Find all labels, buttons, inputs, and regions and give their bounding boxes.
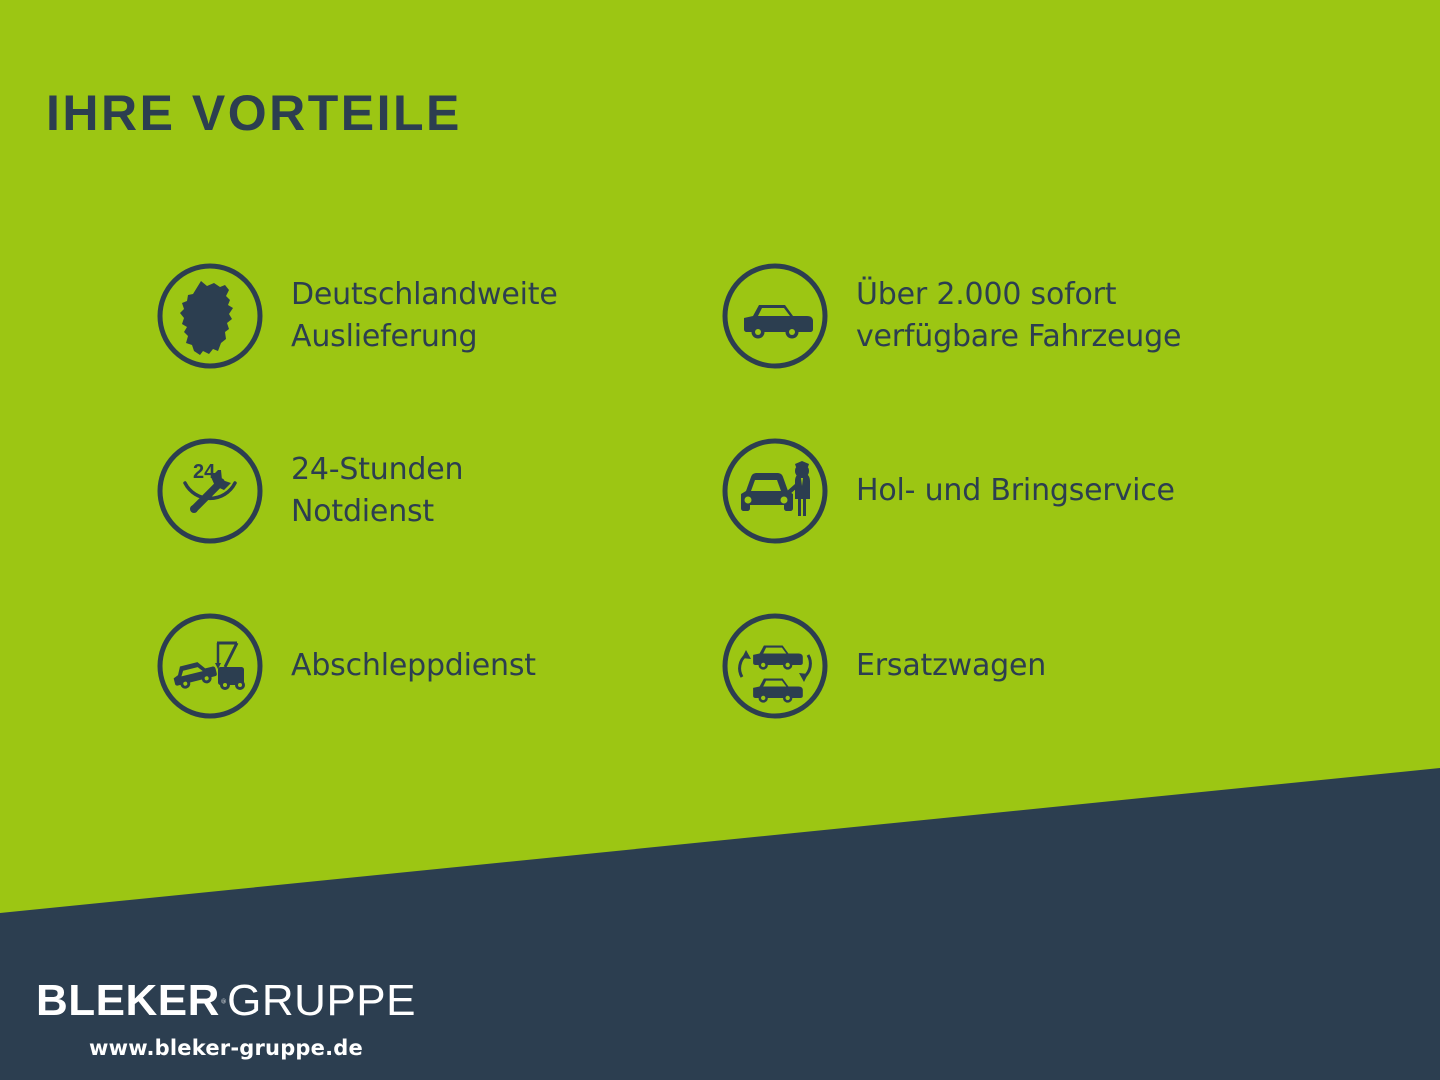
car-exchange-icon xyxy=(720,611,830,721)
slide-canvas: IHRE VORTEILE Deutschlandweite Ausliefer… xyxy=(0,0,1440,1080)
benefit-label: Über 2.000 sofort verfügbare Fahrzeuge xyxy=(856,274,1181,357)
benefit-label: 24-Stunden Notdienst xyxy=(291,449,463,532)
logo-wordmark: BLEKER GRUPPE xyxy=(36,975,416,1027)
car-side-icon xyxy=(720,261,830,371)
benefit-item-hol-und-bringservice: Hol- und Bringservice xyxy=(720,403,1285,578)
benefits-grid: Deutschlandweite Auslieferung Über 2.000… xyxy=(155,228,1355,753)
germany-map-icon xyxy=(155,261,265,371)
car-with-driver-icon xyxy=(720,436,830,546)
page-title: IHRE VORTEILE xyxy=(46,88,462,138)
company-logo: BLEKER GRUPPE www.bleker-gruppe.de xyxy=(36,975,416,1060)
benefit-label: Deutschlandweite Auslieferung xyxy=(291,274,558,357)
benefit-item-abschleppdienst: Abschleppdienst xyxy=(155,578,720,753)
logo-website-url: www.bleker-gruppe.de xyxy=(36,1036,416,1060)
benefit-label: Hol- und Bringservice xyxy=(856,470,1175,511)
benefit-label: Abschleppdienst xyxy=(291,645,536,686)
logo-name-bold: BLEKER xyxy=(36,979,220,1023)
tow-truck-icon xyxy=(155,611,265,721)
benefit-item-verfuegbare-fahrzeuge: Über 2.000 sofort verfügbare Fahrzeuge xyxy=(720,228,1285,403)
24h-wrench-icon: 24 xyxy=(155,436,265,546)
spiral-circle-icon xyxy=(221,972,226,1030)
benefit-label: Ersatzwagen xyxy=(856,645,1046,686)
logo-name-light: GRUPPE xyxy=(227,979,416,1023)
benefit-item-24-stunden-notdienst: 24 24-Stunden Notdienst xyxy=(155,403,720,578)
benefit-item-deutschlandweite-auslieferung: Deutschlandweite Auslieferung xyxy=(155,228,720,403)
benefit-item-ersatzwagen: Ersatzwagen xyxy=(720,578,1285,753)
